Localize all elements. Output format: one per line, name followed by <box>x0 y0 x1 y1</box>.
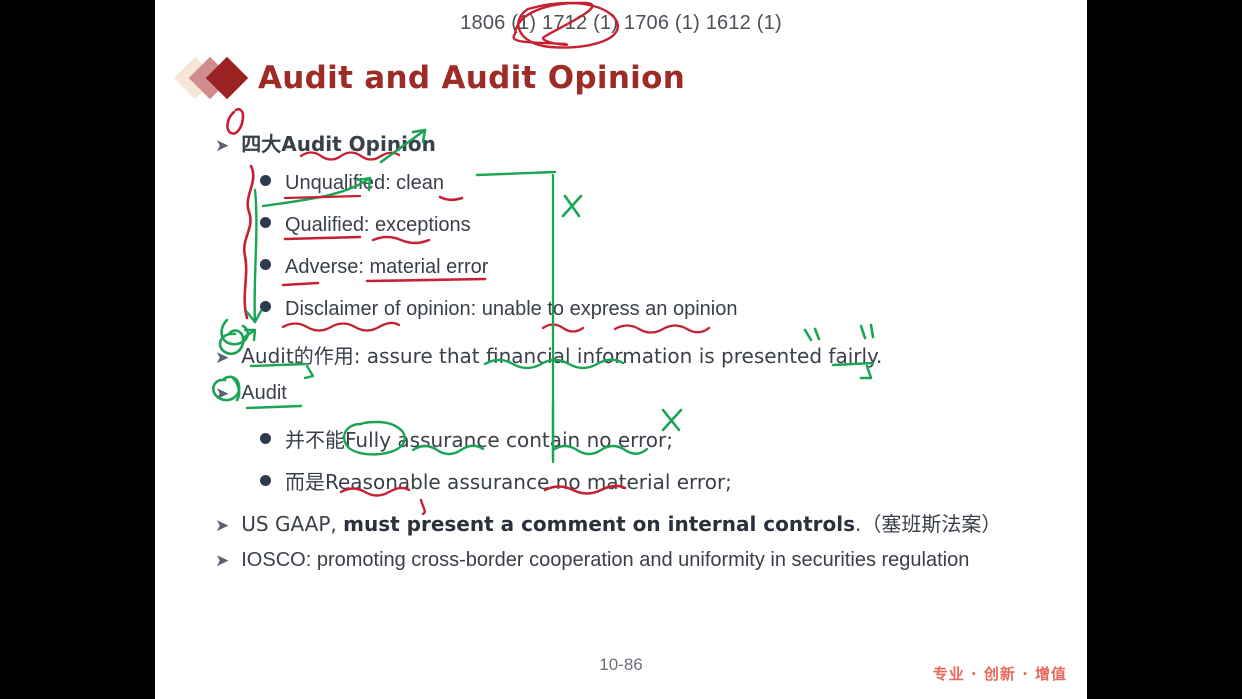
line-text-disclaimer: Disclaimer of opinion: unable to express… <box>285 298 738 321</box>
line-text-audit-role: Audit的作用: assure that financial informat… <box>241 340 882 369</box>
green-left-vertical-line <box>255 190 257 322</box>
line-text-adverse: Adverse: material error <box>285 256 488 279</box>
arrow-bullet-icon: ➤ <box>215 137 229 154</box>
green-quote-corner-tr <box>861 325 873 338</box>
bullet-us-gaap: ➤ US GAAP, must present a comment on int… <box>215 508 1001 537</box>
bullet-disclaimer: Disclaimer of opinion: unable to express… <box>260 298 738 321</box>
bullet-unqualified: Unqualified: clean <box>260 172 444 195</box>
video-stage: 1806 (1) 1712 (1) 1706 (1) 1612 (1) Audi… <box>0 0 1242 699</box>
line-text-but-reasonable: 而是Reasonable assurance no material error… <box>285 466 732 495</box>
bullet-but-reasonable: 而是Reasonable assurance no material error… <box>260 466 732 495</box>
bullet-four-big-audit-opinion: ➤ 四大Audit Opinion <box>215 128 436 157</box>
line-text-qualified: Qualified: exceptions <box>285 214 471 237</box>
green-cross-upper-icon <box>563 196 581 216</box>
arrow-bullet-icon: ➤ <box>215 517 229 534</box>
red-underline-an-opinion <box>615 326 709 333</box>
round-bullet-icon <box>260 259 271 270</box>
bullet-qualified: Qualified: exceptions <box>260 214 471 237</box>
red-underline-qualified <box>285 237 360 239</box>
bullet-iosco: ➤ IOSCO: promoting cross-border cooperat… <box>215 549 969 572</box>
red-underline-material-error <box>367 279 485 281</box>
round-bullet-icon <box>260 475 271 486</box>
line-text-audit: Audit <box>241 382 287 405</box>
red-underline-clean <box>440 197 462 200</box>
us-gaap-tail: .（塞班斯法案） <box>855 512 1001 536</box>
line-text-four-big: 四大Audit Opinion <box>241 128 436 157</box>
arrow-bullet-icon: ➤ <box>215 385 229 402</box>
round-bullet-icon <box>260 175 271 186</box>
title-row: Audit and Audit Opinion <box>180 52 685 104</box>
bullet-adverse: Adverse: material error <box>260 256 488 279</box>
line-text-iosco: IOSCO: promoting cross-border cooperatio… <box>241 549 969 572</box>
red-underline-adverse <box>283 283 318 285</box>
diamond-logo-icon <box>180 55 258 101</box>
round-bullet-icon <box>260 217 271 228</box>
green-quote-corner-tl <box>805 329 819 340</box>
green-underline-audit <box>247 406 301 408</box>
red-underline-disclaimer <box>283 323 399 331</box>
red-vertical-brace-icon <box>244 166 253 318</box>
bullet-not-fully: 并不能Fully assurance contain no error; <box>260 424 673 453</box>
red-underline-unqualified <box>285 196 360 198</box>
page-title: Audit and Audit Opinion <box>258 60 685 96</box>
arrow-bullet-icon: ➤ <box>215 552 229 569</box>
bullet-audit: ➤ Audit <box>215 382 287 405</box>
line-text-unqualified: Unqualified: clean <box>285 172 444 195</box>
red-underline-exceptions <box>373 237 429 243</box>
slide-canvas: 1806 (1) 1712 (1) 1706 (1) 1612 (1) Audi… <box>155 0 1087 699</box>
line-text-us-gaap: US GAAP, must present a comment on inter… <box>241 508 1001 537</box>
us-gaap-emphasis: must present a comment on internal contr… <box>343 512 855 536</box>
arrow-bullet-icon: ➤ <box>215 349 229 366</box>
round-bullet-icon <box>260 433 271 444</box>
green-arrow-down-icon <box>247 311 261 322</box>
line-text-not-fully: 并不能Fully assurance contain no error; <box>285 424 673 453</box>
red-underline-unable <box>543 325 583 332</box>
top-numbers-line: 1806 (1) 1712 (1) 1706 (1) 1612 (1) <box>155 12 1087 35</box>
brand-slogan: 专业 · 创新 · 增值 <box>933 663 1067 684</box>
green-line-after-clean <box>477 172 555 175</box>
round-bullet-icon <box>260 301 271 312</box>
bullet-audit-role: ➤ Audit的作用: assure that financial inform… <box>215 340 882 369</box>
us-gaap-lead: US GAAP, <box>241 512 343 536</box>
